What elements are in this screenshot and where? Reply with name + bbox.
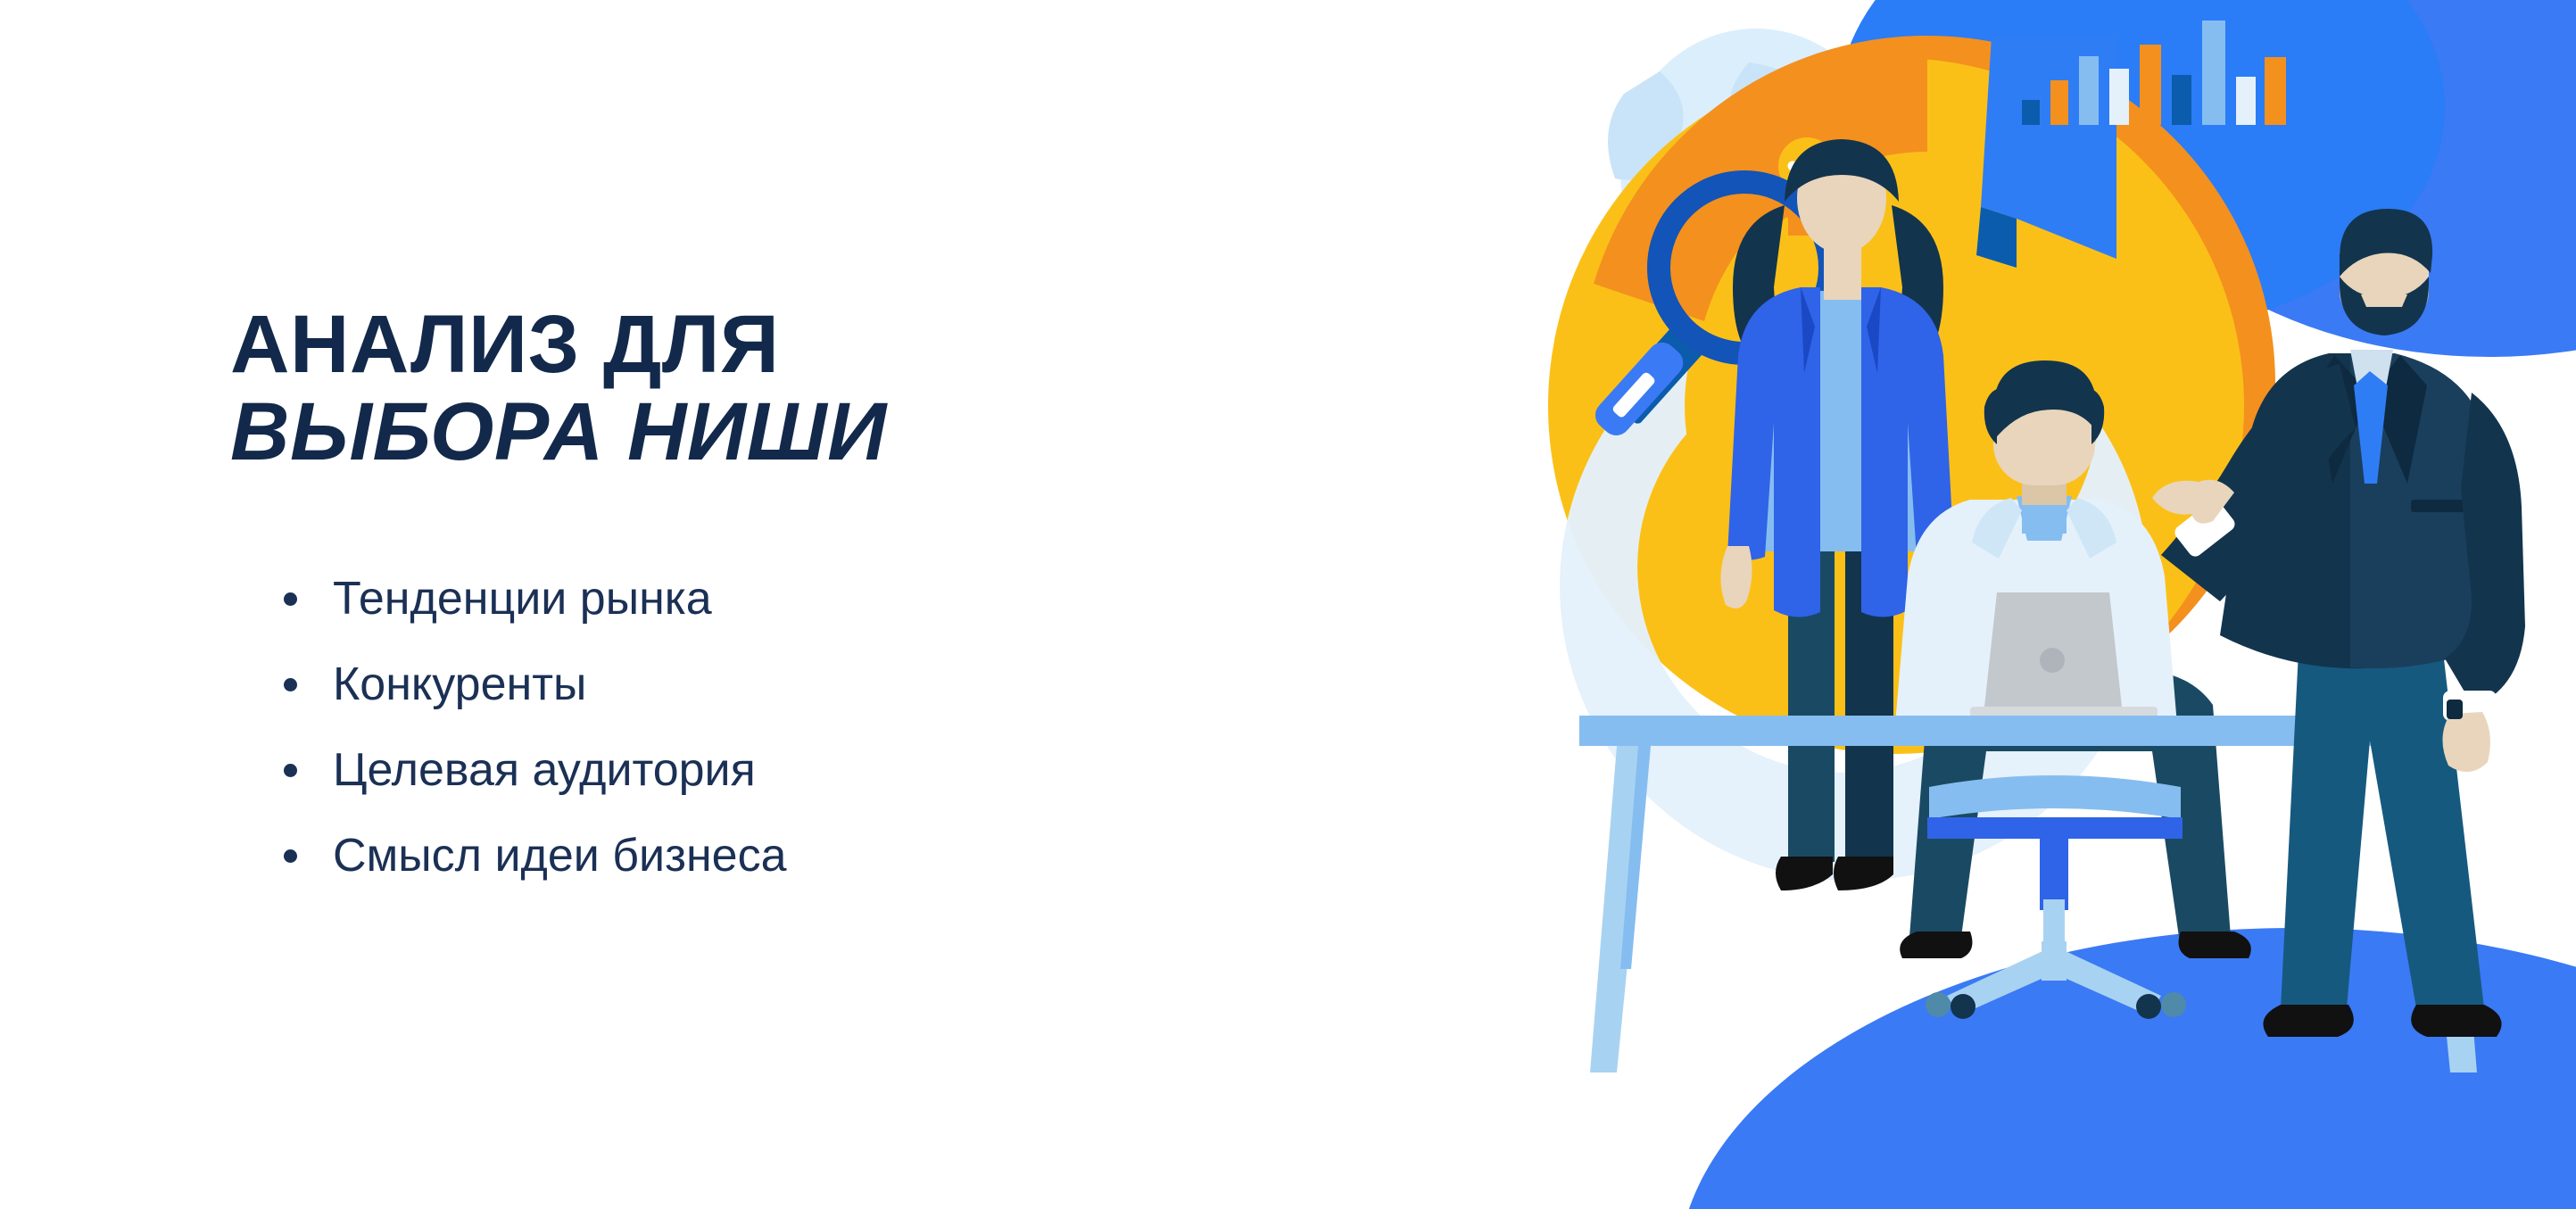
page-title: АНАЛИЗ ДЛЯ ВЫБОРА НИШИ: [230, 303, 1256, 475]
bar: [2050, 80, 2068, 125]
shoe: [1834, 857, 1893, 890]
title-line-1: АНАЛИЗ ДЛЯ: [230, 303, 1256, 387]
bullet-dot-icon: [284, 678, 297, 691]
list-item-label: Смысл идеи бизнеса: [333, 832, 787, 879]
bullet-dot-icon: [284, 849, 297, 863]
hand: [2442, 712, 2489, 772]
bullet-dot-icon: [284, 592, 297, 606]
shoe: [2263, 1005, 2353, 1037]
list-item-label: Целевая аудитория: [333, 747, 756, 793]
shoe: [1900, 932, 1972, 958]
bar: [2079, 56, 2099, 125]
title-line-2: ВЫБОРА НИШИ: [230, 391, 1256, 475]
bar: [2265, 57, 2286, 125]
shoe: [2411, 1005, 2501, 1037]
list-item: Тенденции рынка: [284, 576, 1221, 622]
shoe: [1776, 857, 1833, 890]
bar: [2236, 77, 2256, 125]
text-panel: АНАЛИЗ ДЛЯ ВЫБОРА НИШИ Тенденции рынка К…: [230, 303, 1256, 475]
bullet-list: Тенденции рынка Конкуренты Целевая аудит…: [284, 576, 1221, 918]
list-item: Смысл идеи бизнеса: [284, 832, 1221, 879]
list-item: Конкуренты: [284, 661, 1221, 708]
slide-canvas: АНАЛИЗ ДЛЯ ВЫБОРА НИШИ Тенденции рынка К…: [0, 0, 2576, 1209]
illustration: [1392, 0, 2576, 1209]
list-item: Целевая аудитория: [284, 747, 1221, 793]
bar: [2109, 69, 2129, 125]
list-item-label: Конкуренты: [333, 661, 586, 708]
bar: [2140, 45, 2161, 125]
watch-icon: [2447, 700, 2463, 719]
bar: [2172, 75, 2191, 125]
bar: [2022, 100, 2040, 125]
shoe: [2179, 932, 2251, 958]
bullet-dot-icon: [284, 764, 297, 777]
list-item-label: Тенденции рынка: [333, 576, 712, 622]
bar: [2202, 21, 2225, 125]
